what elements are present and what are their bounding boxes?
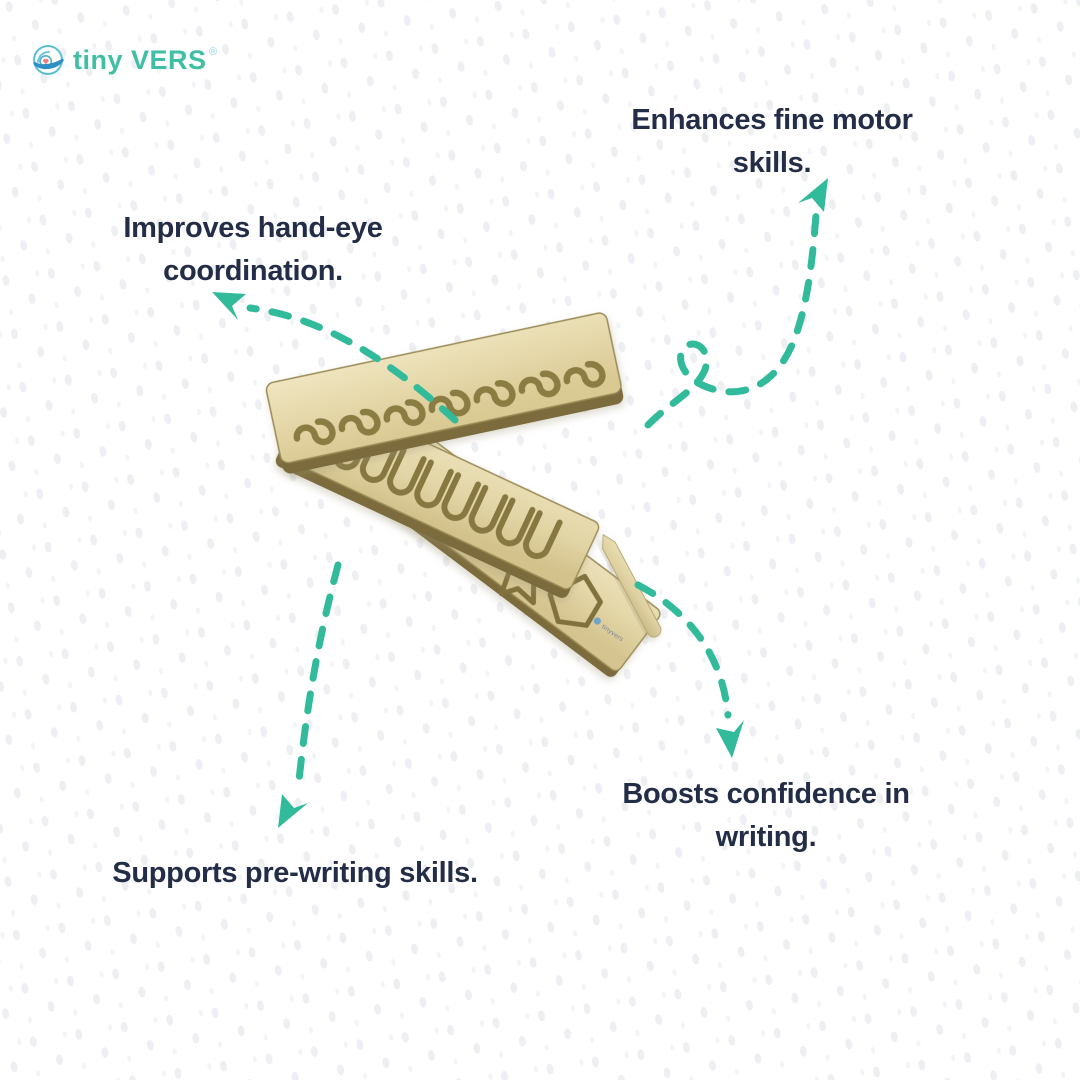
callout-improves-hand-eye-coordination: Improves hand-eye coordination. — [78, 207, 428, 292]
svg-text:VERS: VERS — [131, 45, 207, 75]
brand-logo[interactable]: tiny VERS ® — [30, 36, 230, 84]
tinyvers-globe-icon — [30, 42, 66, 78]
callout-boosts-confidence-in-writing: Boosts confidence in writing. — [585, 773, 947, 858]
callout-enhances-fine-motor-skills: Enhances fine motor skills. — [595, 99, 949, 184]
svg-text:®: ® — [209, 46, 217, 58]
brand-wordmark: tiny VERS ® — [73, 43, 225, 77]
wooden-prewriting-tracing-boards: tinyvers — [255, 320, 705, 690]
svg-text:tiny: tiny — [73, 45, 123, 75]
callout-supports-pre-writing-skills: Supports pre-writing skills. — [60, 852, 530, 895]
